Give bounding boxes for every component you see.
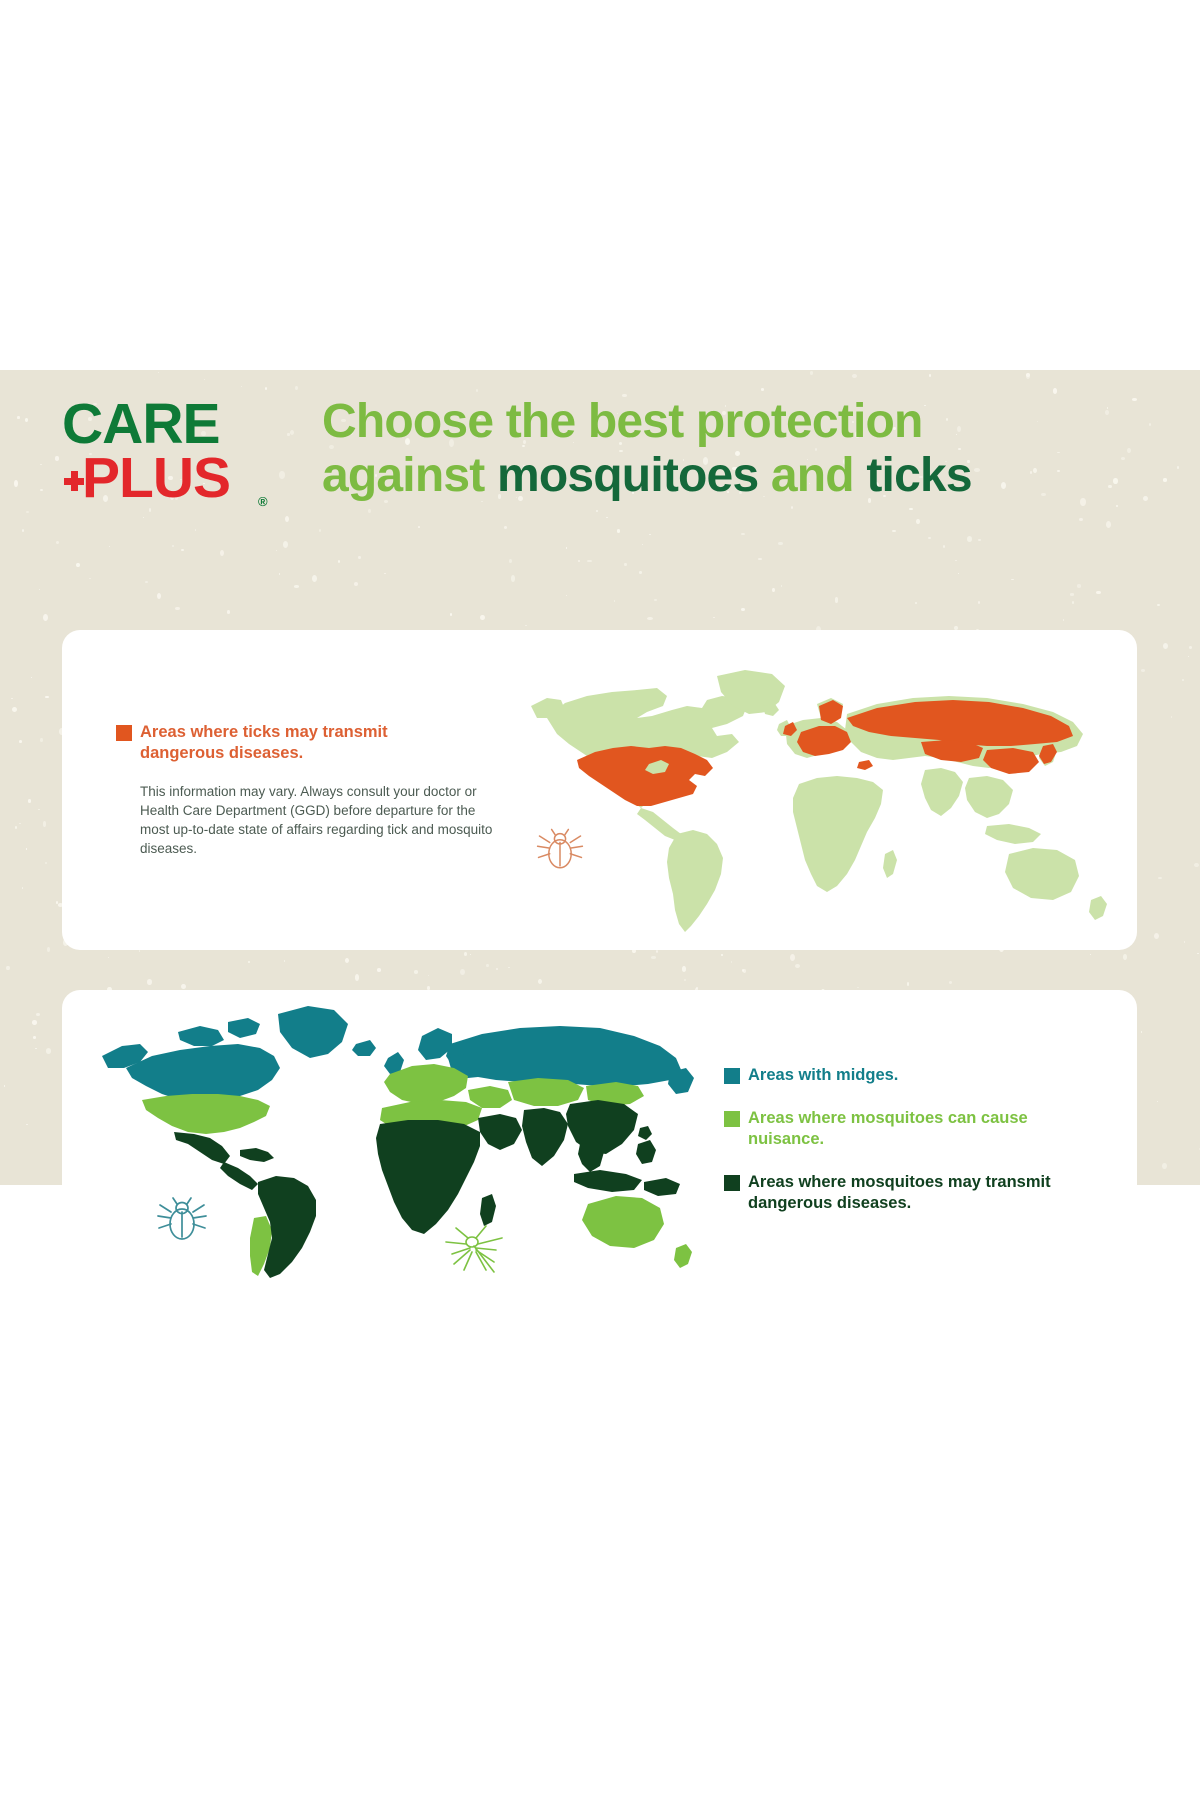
legend-label-midges: Areas with midges.: [748, 1065, 898, 1086]
legend-swatch-lightgreen: [724, 1111, 740, 1127]
map-dangerous-regions: [174, 1100, 680, 1278]
title-mosquitoes: mosquitoes: [497, 449, 758, 502]
legend-label-dangerous: Areas where mosquitoes may transmit dang…: [748, 1172, 1074, 1214]
tick-disclaimer-text: This information may vary. Always consul…: [140, 782, 500, 859]
cross-icon: [64, 471, 84, 491]
tick-panel: Areas where ticks may transmit dangerous…: [62, 630, 1137, 950]
registered-mark: ®: [258, 496, 268, 508]
legend-swatch-orange: [116, 725, 132, 741]
legend-swatch-teal: [724, 1068, 740, 1084]
header: CARE PLUS ® Choose the best protection a…: [0, 370, 1200, 570]
title-against: against: [322, 449, 497, 502]
title-and: and: [758, 449, 866, 502]
legend-label-ticks: Areas where ticks may transmit dangerous…: [140, 722, 446, 764]
mosquito-world-map: [82, 990, 702, 1282]
legend-item-nuisance: Areas where mosquitoes can cause nuisanc…: [724, 1108, 1074, 1150]
title-line-1: Choose the best protection: [322, 395, 1162, 449]
title-line-2: against mosquitoes and ticks: [322, 449, 1162, 503]
logo-care-text: CARE: [62, 398, 277, 452]
legend-item-dangerous: Areas where mosquitoes may transmit dang…: [724, 1172, 1074, 1214]
legend-swatch-darkgreen: [724, 1175, 740, 1191]
mosquito-legend: Areas with midges. Areas where mosquitoe…: [724, 1065, 1074, 1215]
legend-item-midges: Areas with midges.: [724, 1065, 1074, 1086]
tick-legend: Areas where ticks may transmit dangerous…: [116, 722, 446, 764]
title-ticks: ticks: [866, 449, 971, 502]
mosquito-panel: Areas with midges. Areas where mosquitoe…: [62, 990, 1137, 1310]
tick-world-map: [517, 648, 1117, 938]
logo-plus-text: PLUS: [62, 452, 230, 506]
care-plus-logo: CARE PLUS ®: [62, 398, 277, 510]
page-title: Choose the best protection against mosqu…: [322, 395, 1162, 503]
legend-label-nuisance: Areas where mosquitoes can cause nuisanc…: [748, 1108, 1074, 1150]
legend-item-ticks: Areas where ticks may transmit dangerous…: [116, 722, 446, 764]
logo-plus-row: PLUS ®: [62, 452, 277, 510]
